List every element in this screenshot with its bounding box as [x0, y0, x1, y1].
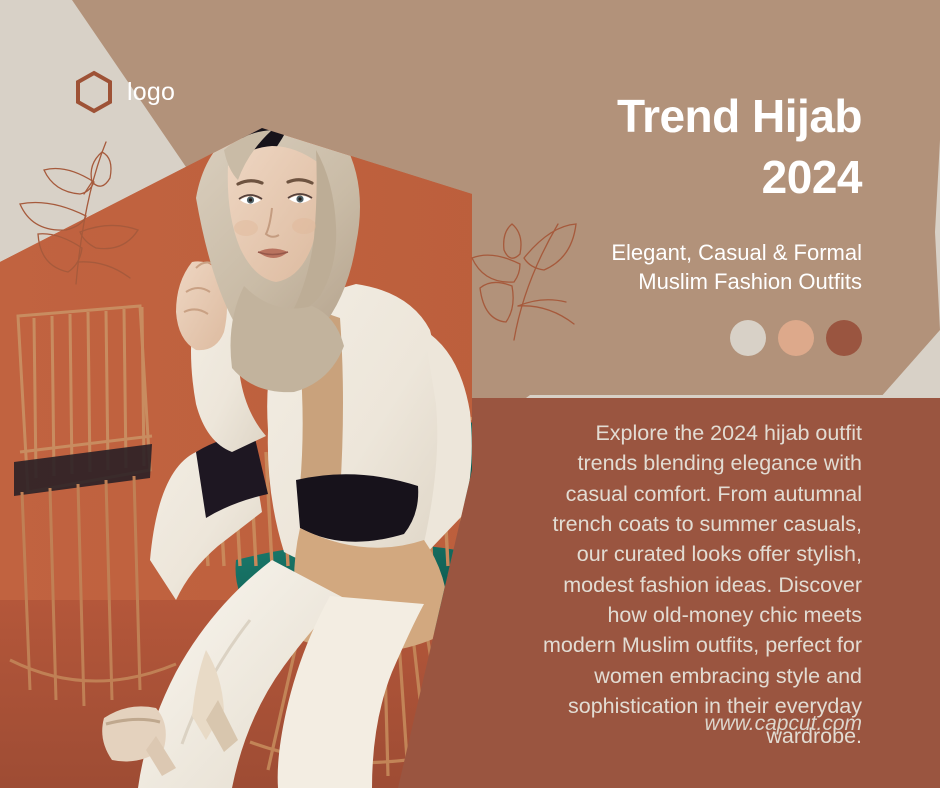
color-swatch-peach: [778, 320, 814, 356]
leaf-branch-right-icon: [462, 202, 602, 342]
page-title: Trend Hijab 2024: [617, 86, 862, 207]
poster-canvas: logo Trend Hijab 2024 Elegant, Casual & …: [0, 0, 940, 788]
color-swatch-cream: [730, 320, 766, 356]
color-swatch-rust: [826, 320, 862, 356]
color-swatch-group: [730, 320, 862, 356]
website-url[interactable]: www.capcut.com: [704, 712, 862, 736]
hexagon-outline-icon: [74, 70, 114, 114]
logo[interactable]: logo: [74, 70, 175, 114]
leaf-branch-left-icon: [14, 136, 164, 286]
page-subtitle: Elegant, Casual & Formal Muslim Fashion …: [611, 238, 862, 296]
logo-text: logo: [127, 80, 175, 105]
body-paragraph: Explore the 2024 hijab outfit trends ble…: [532, 418, 862, 751]
